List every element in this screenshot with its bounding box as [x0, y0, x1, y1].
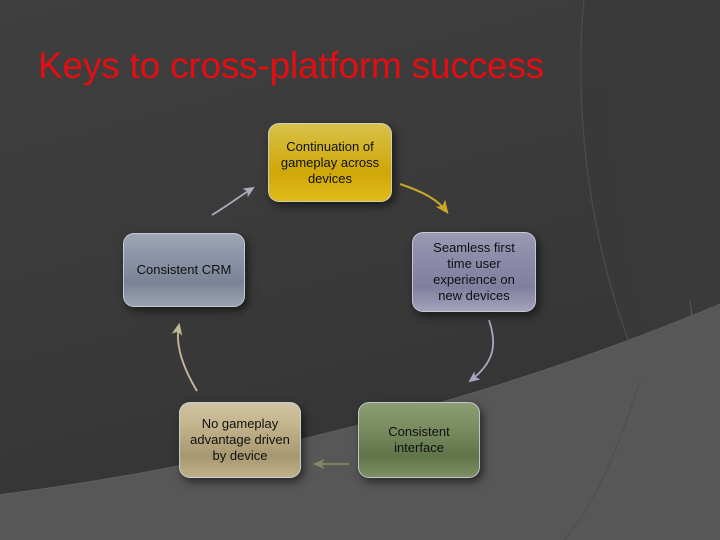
cycle-node-interface[interactable]: Consistent interface — [358, 402, 480, 478]
cycle-node-label: Consistent interface — [367, 424, 471, 456]
arrow-seamless-to-interface — [470, 320, 493, 381]
slide-title: Keys to cross-platform success — [38, 44, 544, 88]
cycle-node-label: Consistent CRM — [137, 262, 232, 278]
cycle-node-label: Seamless first time user experience on n… — [421, 240, 527, 304]
arrow-continuation-to-seamless — [400, 184, 447, 212]
cycle-node-label: Continuation of gameplay across devices — [277, 139, 383, 187]
cycle-node-continuation[interactable]: Continuation of gameplay across devices — [268, 123, 392, 202]
slide-canvas: Keys to cross-platform success Continuat… — [0, 0, 720, 540]
arrow-crm-to-continuation — [212, 188, 253, 215]
cycle-node-crm[interactable]: Consistent CRM — [123, 233, 245, 307]
cycle-node-label: No gameplay advantage driven by device — [188, 416, 292, 464]
cycle-node-advantage[interactable]: No gameplay advantage driven by device — [179, 402, 301, 478]
cycle-node-seamless[interactable]: Seamless first time user experience on n… — [412, 232, 536, 312]
arrow-advantage-to-crm — [178, 325, 197, 391]
